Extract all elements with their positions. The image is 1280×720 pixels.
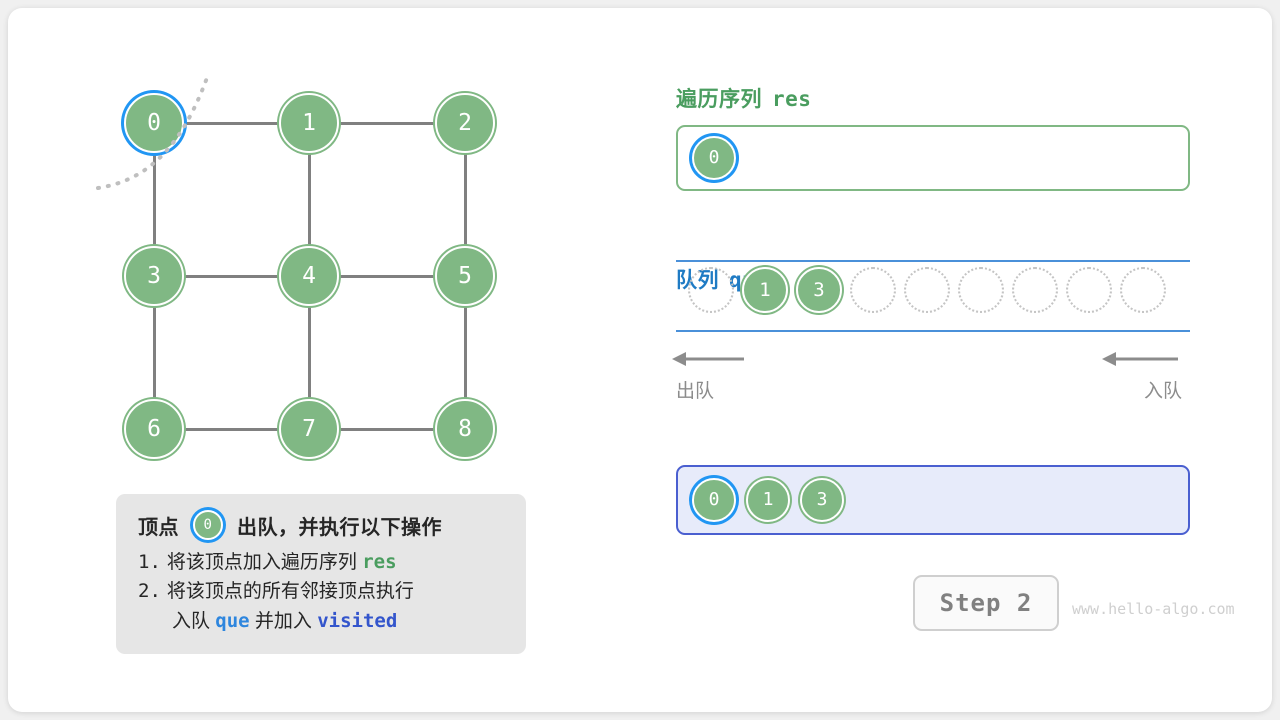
queue-empty-slot xyxy=(688,267,734,313)
caption-step-1: 1.将该顶点加入遍历序列 res xyxy=(138,548,508,577)
visited-item-1[interactable]: 1 xyxy=(746,478,790,522)
step-2-line2-prefix: 入队 xyxy=(172,611,210,632)
step-2-code-visited: visited xyxy=(317,610,397,632)
step-badge: Step 2 xyxy=(913,575,1059,631)
step-2-code-que: que xyxy=(215,610,249,632)
queue-empty-slot xyxy=(1066,267,1112,313)
dotted-cut-arc-icon xyxy=(88,63,238,198)
graph-edge xyxy=(153,306,156,399)
queue-rail-top xyxy=(676,260,1190,262)
enqueue-label: 入队 xyxy=(1144,376,1182,403)
graph-edge xyxy=(184,275,279,278)
queue-empty-slot xyxy=(1120,267,1166,313)
graph-node-7[interactable]: 7 xyxy=(279,399,339,459)
diagram-card: 012345678 顶点 0 出队，并执行以下操作 1.将该顶点加入遍历序列 r… xyxy=(8,8,1272,712)
step-2-line2-middle: 并加入 xyxy=(255,611,312,632)
queue-rail-bottom xyxy=(676,330,1190,332)
queue-container: 13 xyxy=(676,260,1190,332)
step-1-code-res: res xyxy=(362,551,396,573)
res-title-cn: 遍历序列 xyxy=(676,88,762,111)
queue-empty-slot xyxy=(904,267,950,313)
graph-edge xyxy=(308,306,311,399)
graph-edge xyxy=(464,306,467,399)
step-1-text: 将该顶点加入遍历序列 xyxy=(167,552,357,573)
step-2-text: 将该顶点的所有邻接顶点执行 xyxy=(167,581,414,602)
res-section-title: 遍历序列res xyxy=(676,83,811,113)
queue-item-3[interactable]: 3 xyxy=(796,267,842,313)
right-panel: 遍历序列res 0 队列que 13 出队 入队 哈希表visited xyxy=(668,8,1268,712)
caption-step-2-cont: 入队 que 并加入 visited xyxy=(138,607,508,636)
caption-step-2: 2.将该顶点的所有邻接顶点执行 xyxy=(138,577,508,606)
dequeue-label: 出队 xyxy=(676,376,714,403)
graph-edge xyxy=(339,428,435,431)
res-title-code: res xyxy=(772,87,811,111)
graph-node-2[interactable]: 2 xyxy=(435,93,495,153)
caption-box: 顶点 0 出队，并执行以下操作 1.将该顶点加入遍历序列 res 2.将该顶点的… xyxy=(116,494,526,654)
graph-node-1[interactable]: 1 xyxy=(279,93,339,153)
graph-node-8[interactable]: 8 xyxy=(435,399,495,459)
caption-title-prefix: 顶点 xyxy=(138,511,179,540)
queue-empty-slot xyxy=(958,267,1004,313)
step-1-index: 1. xyxy=(138,551,161,573)
visited-item-3[interactable]: 3 xyxy=(800,478,844,522)
graph-panel: 012345678 xyxy=(8,8,628,488)
graph-edge xyxy=(184,428,279,431)
graph-node-3[interactable]: 3 xyxy=(124,246,184,306)
res-item-0[interactable]: 0 xyxy=(692,136,736,180)
step-2-index: 2. xyxy=(138,580,161,602)
queue-empty-slot xyxy=(850,267,896,313)
visited-item-0[interactable]: 0 xyxy=(692,478,736,522)
watermark: www.hello-algo.com xyxy=(1072,600,1235,618)
graph-node-5[interactable]: 5 xyxy=(435,246,495,306)
graph-edge xyxy=(464,153,467,246)
graph-node-4[interactable]: 4 xyxy=(279,246,339,306)
caption-step-list: 1.将该顶点加入遍历序列 res 2.将该顶点的所有邻接顶点执行 入队 que … xyxy=(138,548,508,636)
queue-arrow-row: 出队 入队 xyxy=(668,348,1182,408)
graph-edge xyxy=(339,275,435,278)
caption-title: 顶点 0 出队，并执行以下操作 xyxy=(138,510,508,540)
graph-edge xyxy=(339,122,435,125)
caption-title-suffix: 出队，并执行以下操作 xyxy=(237,511,442,540)
res-container: 0 xyxy=(676,125,1190,191)
queue-item-1[interactable]: 1 xyxy=(742,267,788,313)
enqueue-left-arrow-icon xyxy=(1100,348,1180,370)
visited-container: 013 xyxy=(676,465,1190,535)
queue-empty-slot xyxy=(1012,267,1058,313)
graph-node-6[interactable]: 6 xyxy=(124,399,184,459)
caption-inline-node: 0 xyxy=(193,510,223,540)
dequeue-left-arrow-icon xyxy=(670,348,750,370)
graph-edge xyxy=(308,153,311,246)
